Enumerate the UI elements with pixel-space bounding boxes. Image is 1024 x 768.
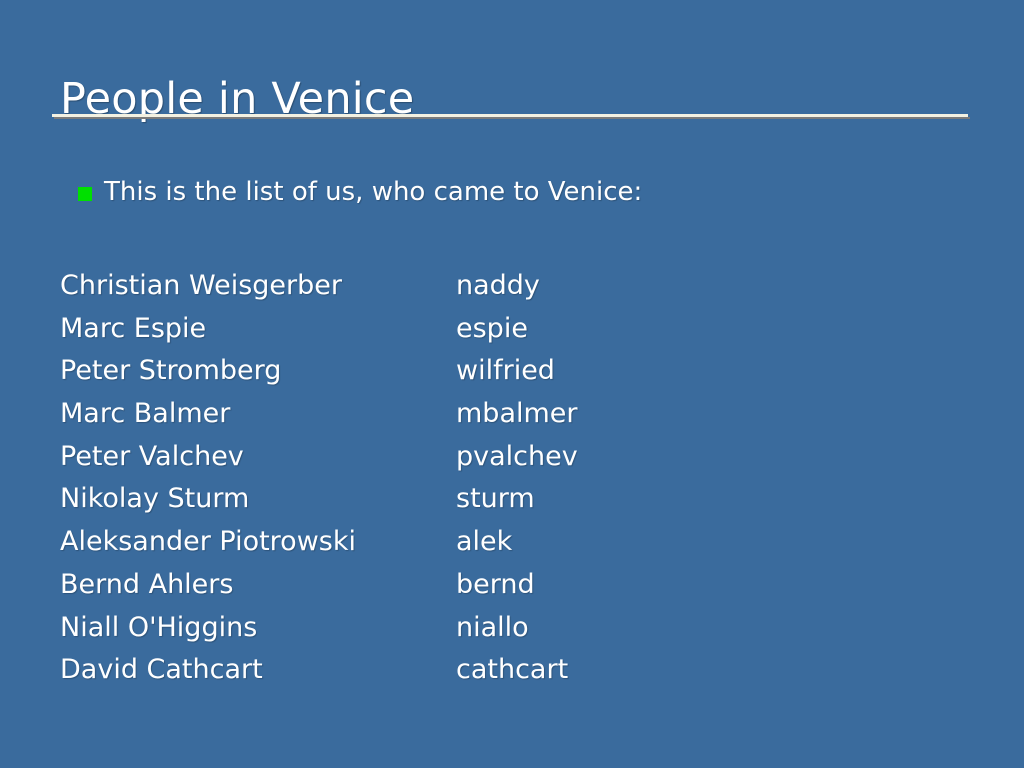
person-handle: wilfried <box>456 350 555 393</box>
person-handle: bernd <box>456 564 535 607</box>
person-handle: niallo <box>456 607 529 650</box>
list-item: Peter Stromberg wilfried <box>60 350 960 393</box>
person-handle: cathcart <box>456 649 568 692</box>
list-item: Peter Valchev pvalchev <box>60 436 960 479</box>
list-item: Nikolay Sturm sturm <box>60 478 960 521</box>
list-item: Marc Balmer mbalmer <box>60 393 960 436</box>
list-item: Christian Weisgerber naddy <box>60 265 960 308</box>
intro-bullet-row: This is the list of us, who came to Veni… <box>78 178 642 208</box>
person-name: Christian Weisgerber <box>60 265 456 308</box>
title-divider-shadow <box>54 117 970 119</box>
list-item: David Cathcart cathcart <box>60 649 960 692</box>
person-handle: naddy <box>456 265 540 308</box>
person-handle: alek <box>456 521 512 564</box>
person-name: Aleksander Piotrowski <box>60 521 456 564</box>
person-name: Peter Valchev <box>60 436 456 479</box>
person-handle: sturm <box>456 478 535 521</box>
person-handle: pvalchev <box>456 436 578 479</box>
person-name: Marc Espie <box>60 308 456 351</box>
people-list: Christian Weisgerber naddy Marc Espie es… <box>60 265 960 692</box>
list-item: Bernd Ahlers bernd <box>60 564 960 607</box>
list-item: Marc Espie espie <box>60 308 960 351</box>
person-name: Marc Balmer <box>60 393 456 436</box>
person-name: Nikolay Sturm <box>60 478 456 521</box>
person-name: Peter Stromberg <box>60 350 456 393</box>
person-name: David Cathcart <box>60 649 456 692</box>
intro-bullet-text: This is the list of us, who came to Veni… <box>104 178 642 208</box>
person-name: Bernd Ahlers <box>60 564 456 607</box>
square-bullet-icon <box>78 187 92 201</box>
slide-canvas: People in Venice This is the list of us,… <box>0 0 1024 768</box>
person-handle: espie <box>456 308 528 351</box>
person-name: Niall O'Higgins <box>60 607 456 650</box>
person-handle: mbalmer <box>456 393 578 436</box>
list-item: Aleksander Piotrowski alek <box>60 521 960 564</box>
list-item: Niall O'Higgins niallo <box>60 607 960 650</box>
